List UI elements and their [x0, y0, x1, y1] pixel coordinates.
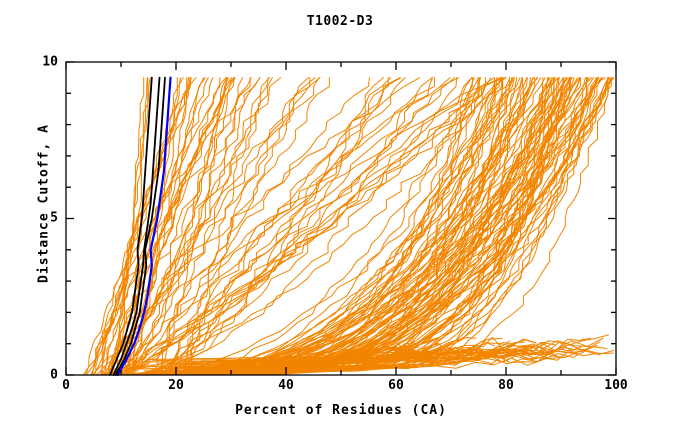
x-tick-label-100: 100: [604, 378, 627, 393]
x-tick-label-20: 20: [168, 378, 184, 393]
x-tick-label-80: 80: [498, 378, 514, 393]
y-tick-label-0: 0: [36, 368, 58, 383]
x-tick-label-60: 60: [388, 378, 404, 393]
x-tick-label-40: 40: [278, 378, 294, 393]
x-axis-label: Percent of Residues (CA): [66, 403, 616, 418]
plot-figure: T1002-D3 Distance Cutoff, A Percent of R…: [0, 0, 680, 440]
page-title: T1002-D3: [0, 14, 680, 29]
curve-layer: [83, 78, 614, 375]
y-tick-label-10: 10: [30, 55, 58, 70]
y-axis-label: Distance Cutoff, A: [37, 64, 52, 344]
y-tick-label-5: 5: [36, 211, 58, 226]
plot-canvas: [0, 0, 680, 440]
x-tick-label-0: 0: [62, 378, 70, 393]
